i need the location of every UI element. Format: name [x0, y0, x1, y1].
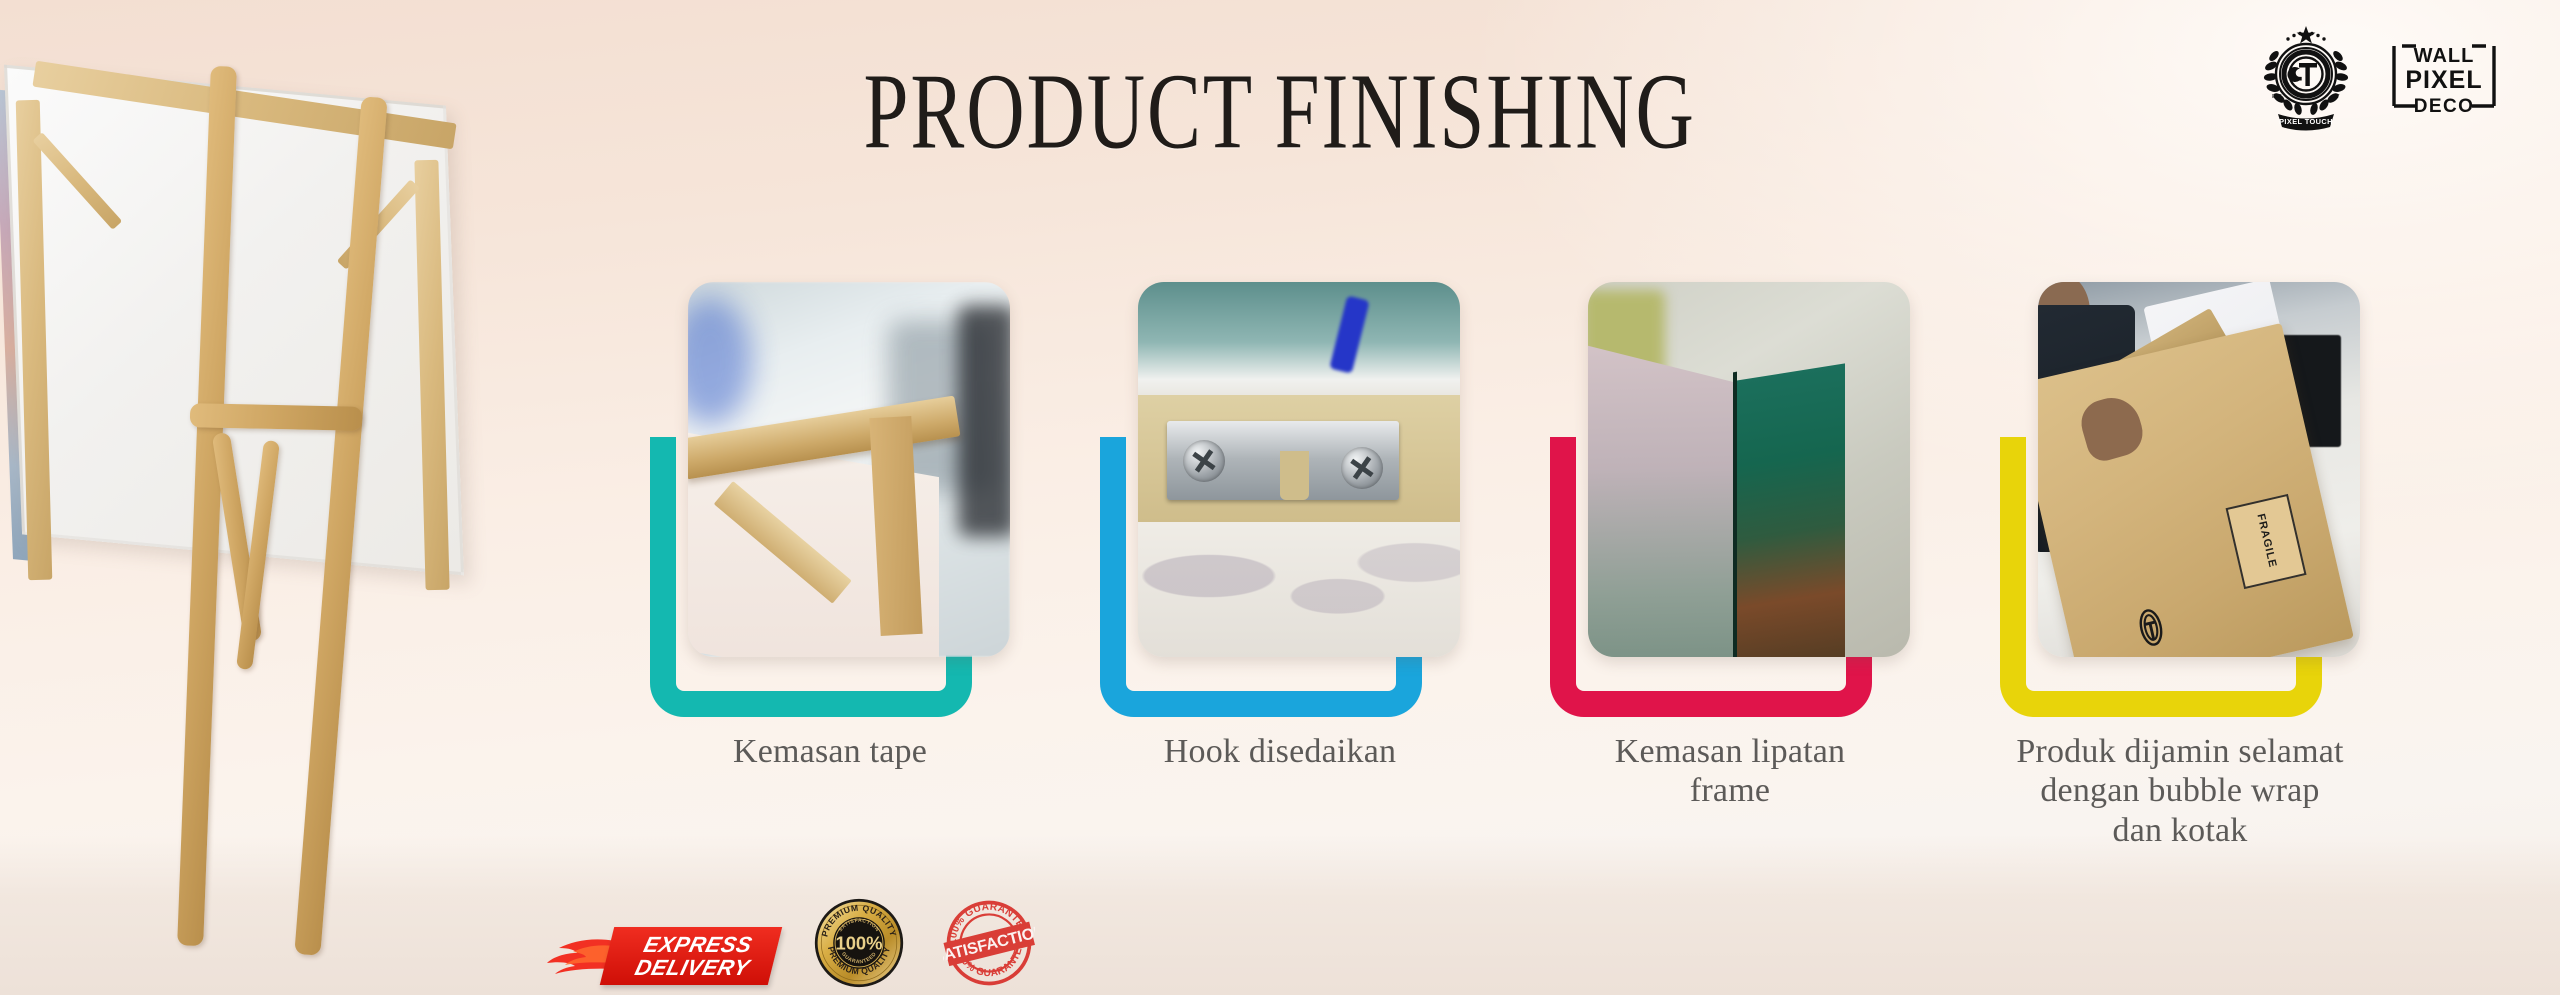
card-photo-kemasan-tape	[688, 282, 1010, 657]
wall-pixel-deco-logo: WALL PIXEL DECO	[2380, 34, 2508, 118]
express-line-1: EXPRESS	[641, 934, 754, 957]
screw-icon	[1183, 440, 1225, 482]
card-caption: Produk dijamin selamat dengan bubble wra…	[1990, 732, 2370, 850]
express-delivery-text: EXPRESS DELIVERY	[608, 929, 782, 985]
badge-express-delivery: EXPRESS DELIVERY	[585, 923, 775, 989]
card-photo-hook-disedaikan	[1138, 282, 1460, 657]
card-photo-produk-dijamin-selamat: FRAGILE	[2038, 282, 2360, 657]
product-finishing-banner: PRODUCT FINISHING	[0, 0, 2560, 995]
feature-card-row: Kemasan tape Hook disedaikan	[650, 282, 2530, 762]
crest-ribbon-text: PIXEL TOUCH	[2279, 117, 2333, 126]
pixel-touch-crest-logo: EST. 07 PIXEL TOUCH	[2258, 22, 2354, 130]
feature-card-hook-disedaikan[interactable]: Hook disedaikan	[1100, 282, 1460, 752]
logo-group: EST. 07 PIXEL TOUCH WALL PIXEL DECO	[2258, 22, 2508, 130]
brand-line-deco: DECO	[2414, 96, 2475, 117]
feature-card-produk-dijamin-selamat[interactable]: FRAGILE Produk dijamin selamat dengan bu…	[2000, 282, 2360, 752]
hero-easel-image	[0, 60, 762, 995]
trust-badge-row: EXPRESS DELIVERY	[585, 897, 1035, 989]
feature-card-kemasan-tape[interactable]: Kemasan tape	[650, 282, 1010, 752]
easel-crossbar	[190, 403, 362, 431]
feature-card-kemasan-lipatan-frame[interactable]: Kemasan lipatan frame	[1550, 282, 1910, 752]
crest-est-left: EST.	[2272, 94, 2283, 100]
brand-line-pixel: PIXEL	[2405, 66, 2482, 94]
crest-est-right: 07	[2334, 94, 2340, 100]
badge-satisfaction-guarantee: 100% GUARANTEE 100% GUARANTEE SATISFACTI…	[943, 897, 1035, 989]
card-photo-kemasan-lipatan-frame	[1588, 282, 1910, 657]
premium-seal-center-value: 100%	[835, 932, 882, 953]
card-caption: Kemasan tape	[640, 732, 1020, 771]
badge-premium-quality: PREMIUM QUALITY PREMIUM QUALITY SATISFAC…	[813, 897, 905, 989]
screw-icon	[1341, 447, 1383, 489]
brand-line-wall: WALL	[2414, 45, 2475, 67]
card-caption: Kemasan lipatan frame	[1540, 732, 1920, 811]
card-caption: Hook disedaikan	[1090, 732, 1470, 771]
express-line-2: DELIVERY	[632, 957, 751, 980]
